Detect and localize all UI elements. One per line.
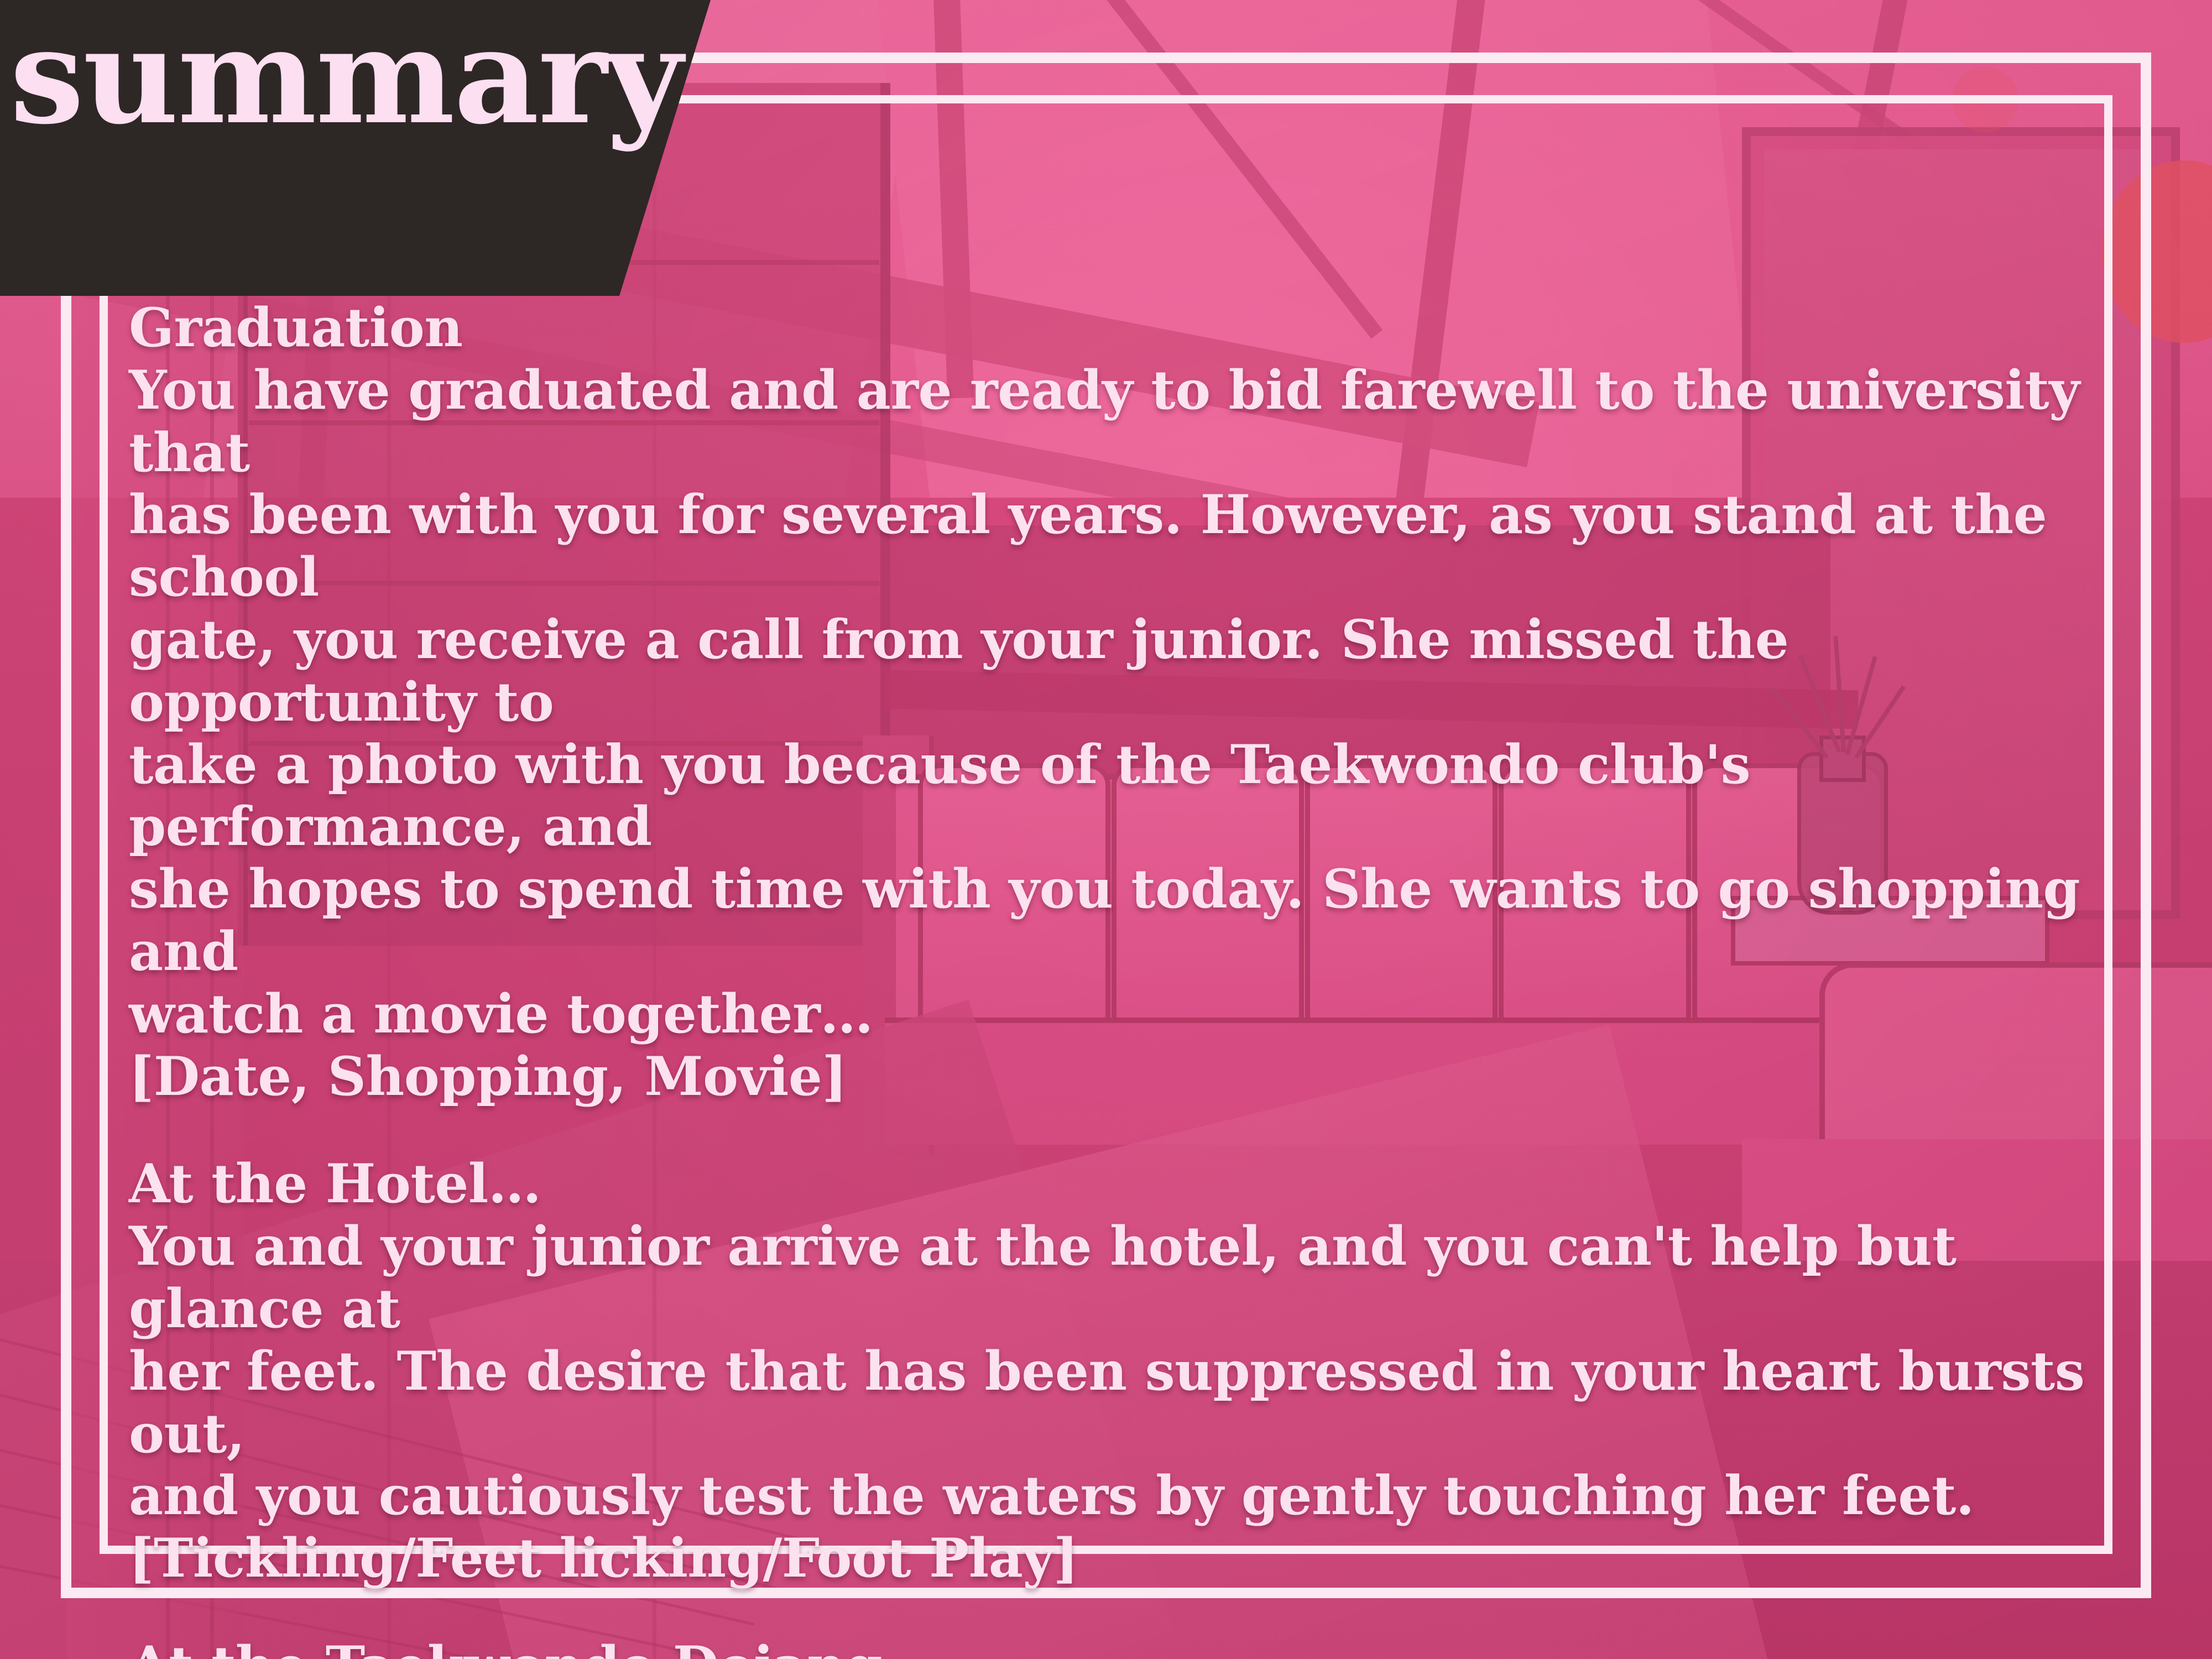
summary-slide: summary GraduationYou have graduated and…	[0, 0, 2212, 1659]
section-line: has been with you for several years. How…	[129, 484, 2114, 609]
section-line: take a photo with you because of the Tae…	[129, 734, 2114, 859]
title-banner: summary	[0, 0, 719, 296]
section-tags: [Date, Shopping, Movie]	[129, 1046, 2114, 1108]
section-line: her feet. The desire that has been suppr…	[129, 1340, 2114, 1465]
section-heading: Graduation	[129, 297, 2114, 359]
page-title: summary	[10, 11, 682, 143]
section-heading: At the Hotel…	[129, 1153, 2114, 1215]
summary-body: GraduationYou have graduated and are rea…	[129, 297, 2114, 1659]
section-line: gate, you receive a call from your junio…	[129, 609, 2114, 734]
section-line: and you cautiously test the waters by ge…	[129, 1465, 2114, 1527]
section-line: You and your junior arrive at the hotel,…	[129, 1215, 2114, 1340]
section-spacer	[129, 1108, 2114, 1153]
section-tags: [Tickling/Feet licking/Foot Play]	[129, 1527, 2114, 1590]
section-line: You have graduated and are ready to bid …	[129, 359, 2114, 484]
section-line: watch a movie together…	[129, 983, 2114, 1046]
section-spacer	[129, 1590, 2114, 1635]
section-line: she hopes to spend time with you today. …	[129, 858, 2114, 983]
section-heading: At the Taekwondo Dojang…	[129, 1635, 2114, 1659]
